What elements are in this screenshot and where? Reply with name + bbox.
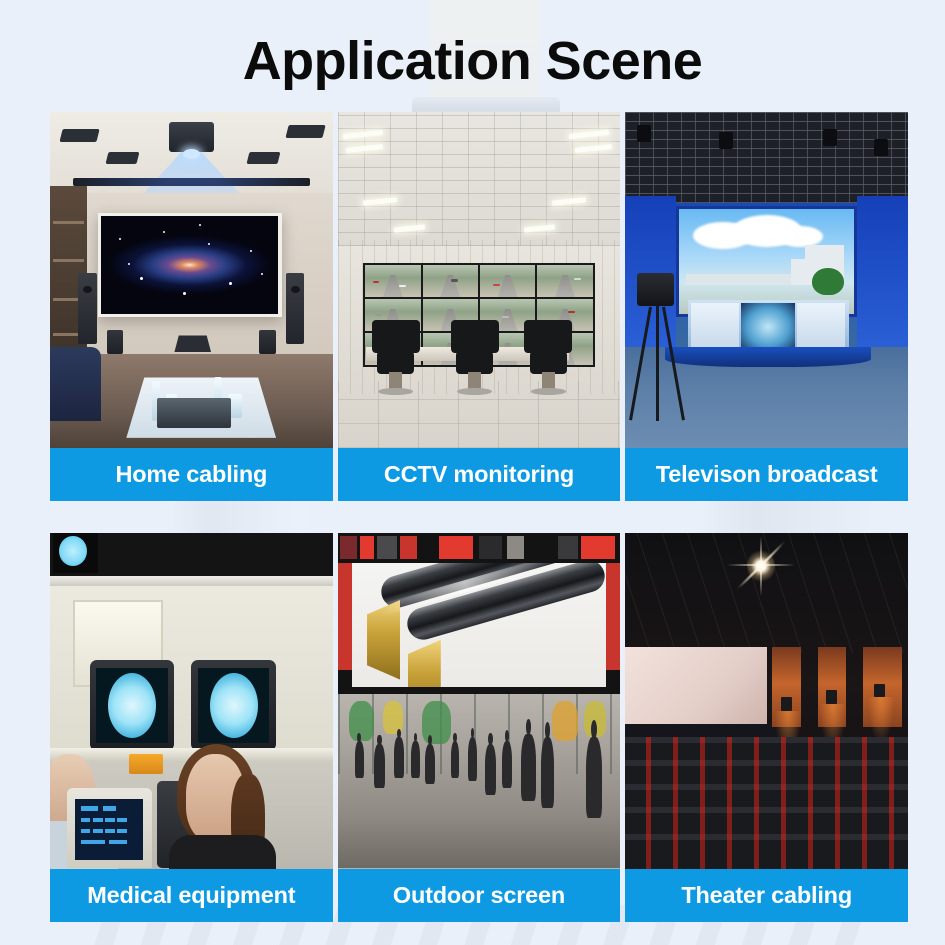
scene-card-home-cabling[interactable]: Home cabling <box>50 112 333 502</box>
broadcast-camera <box>634 273 679 421</box>
scene-image-television-broadcast <box>625 112 908 448</box>
scene-caption-medical-equipment: Medical equipment <box>50 869 333 922</box>
cinema-screen <box>625 647 766 728</box>
page-title: Application Scene <box>0 30 945 92</box>
scene-caption-cctv-monitoring: CCTV monitoring <box>338 448 621 501</box>
scene-image-cctv-monitoring <box>338 112 621 448</box>
scene-image-home-cabling <box>50 112 333 448</box>
scene-card-outdoor-screen[interactable]: Outdoor screen <box>338 533 621 923</box>
scene-card-cctv-monitoring[interactable]: CCTV monitoring <box>338 112 621 502</box>
scene-caption-theater-cabling: Theater cabling <box>625 869 908 922</box>
scene-card-theater-cabling[interactable]: Theater cabling <box>625 533 908 923</box>
scene-card-medical-equipment[interactable]: Medical equipment <box>50 533 333 923</box>
scene-image-theater-cabling <box>625 533 908 869</box>
projection-screen <box>101 216 278 313</box>
application-scene-page: Application Scene <box>0 0 945 945</box>
scene-card-television-broadcast[interactable]: Televison broadcast <box>625 112 908 502</box>
scene-grid: Home cabling <box>50 112 908 922</box>
control-console <box>67 788 152 869</box>
scene-image-outdoor-screen <box>338 533 621 869</box>
scene-caption-television-broadcast: Televison broadcast <box>625 448 908 501</box>
scene-image-medical-equipment <box>50 533 333 869</box>
scene-caption-home-cabling: Home cabling <box>50 448 333 501</box>
scene-caption-outdoor-screen: Outdoor screen <box>338 869 621 922</box>
crt-monitor-left <box>90 660 175 751</box>
anchor-desk <box>688 300 849 354</box>
hdmi-cable-product-image <box>352 563 606 687</box>
ceiling-spotlight <box>747 549 775 583</box>
crt-monitor-right <box>191 660 276 751</box>
